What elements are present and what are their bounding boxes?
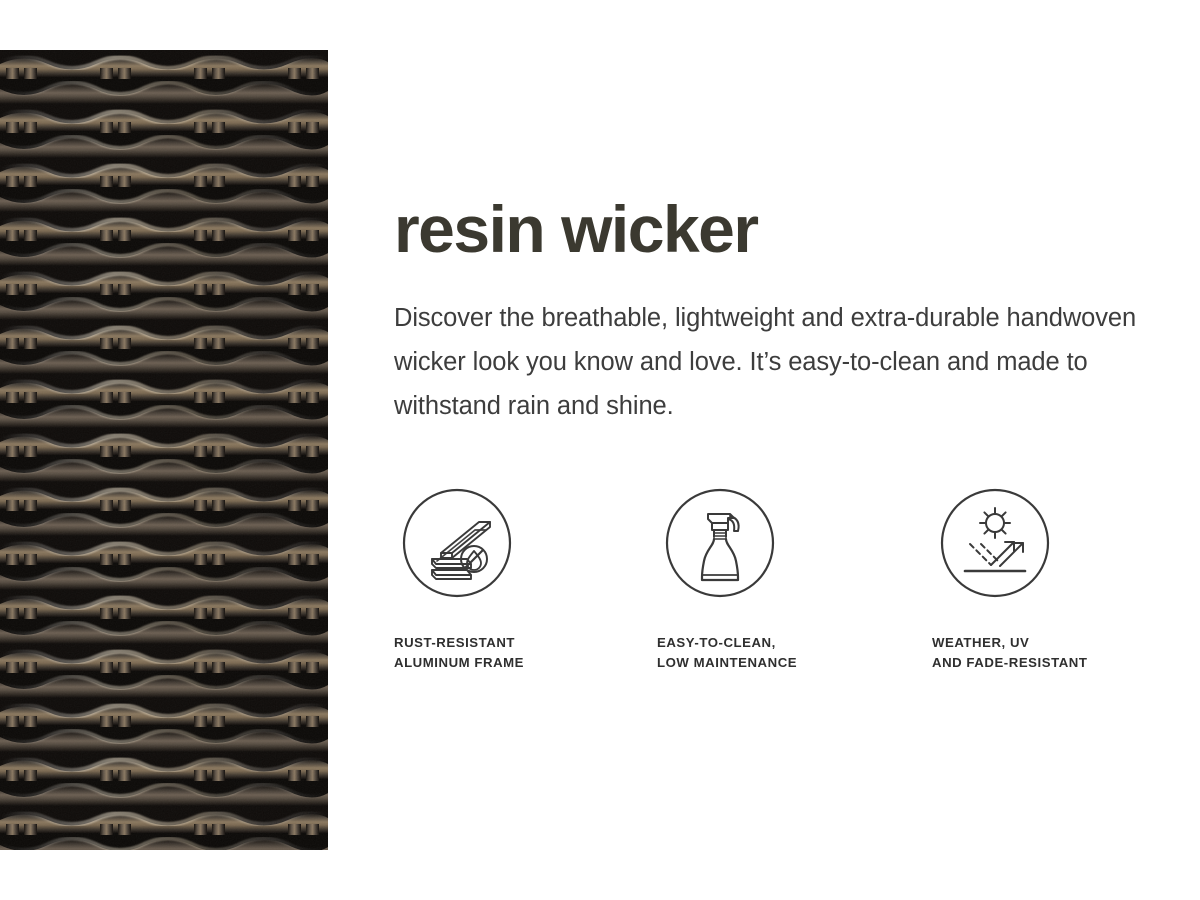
caption-line: ALUMINUM FRAME xyxy=(394,653,524,673)
feature-caption-weather-uv-fade: WEATHER, UV AND FADE-RESISTANT xyxy=(932,633,1087,673)
promo-panel: resin wicker Discover the breathable, li… xyxy=(0,0,1200,900)
caption-line: WEATHER, UV xyxy=(932,633,1087,653)
sun-uv-reflect-icon xyxy=(939,487,1051,599)
wicker-weave-graphic xyxy=(0,50,328,850)
resin-wicker-texture-image xyxy=(0,50,328,850)
feature-caption-easy-to-clean: EASY-TO-CLEAN, LOW MAINTENANCE xyxy=(657,633,797,673)
spray-bottle-icon xyxy=(664,487,776,599)
feature-list: RUST-RESISTANT ALUMINUM FRAME xyxy=(394,487,1184,687)
caption-line: RUST-RESISTANT xyxy=(394,633,524,653)
caption-line: LOW MAINTENANCE xyxy=(657,653,797,673)
caption-line: AND FADE-RESISTANT xyxy=(932,653,1087,673)
feature-caption-rust-resistant: RUST-RESISTANT ALUMINUM FRAME xyxy=(394,633,524,673)
caption-line: EASY-TO-CLEAN, xyxy=(657,633,797,653)
page-title: resin wicker xyxy=(394,196,758,262)
content-column: resin wicker Discover the breathable, li… xyxy=(394,0,1184,900)
description-text: Discover the breathable, lightweight and… xyxy=(394,296,1154,428)
rust-resistant-aluminum-icon xyxy=(401,487,513,599)
